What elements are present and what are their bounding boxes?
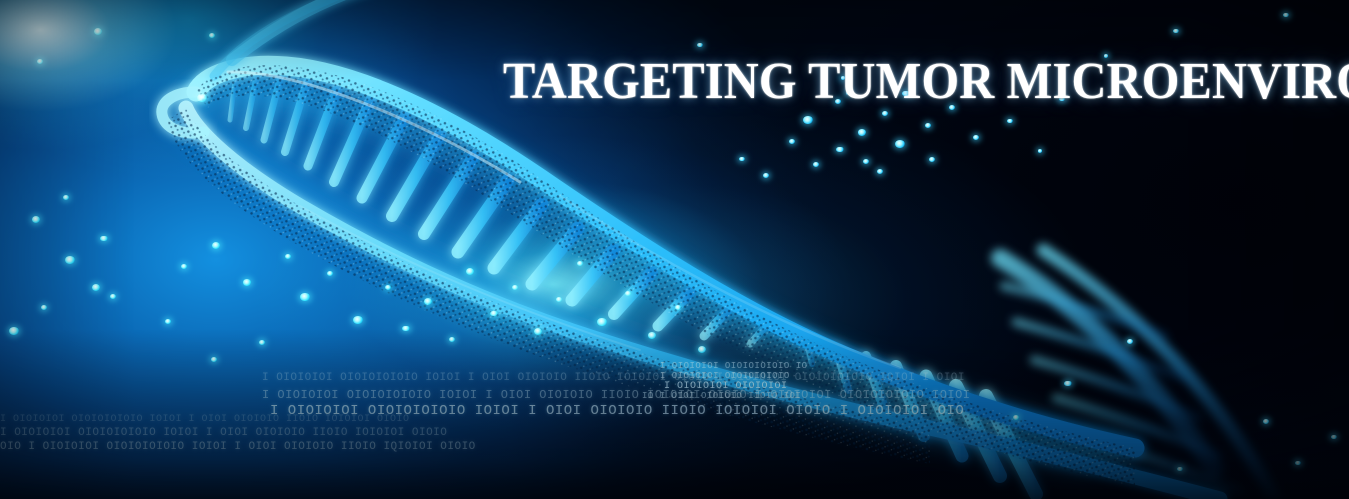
binary-code-row: I OIOIOIOI OIOIOIOIOIO IOIOI I OIOI OIOI… — [0, 414, 410, 425]
binary-code-row: I OIOIOIOI OIOIOIOIOIO IO — [660, 361, 808, 371]
banner-image: I OIOIOIOI OIOIOIOIOIO IOIOI I OIOI OIOI… — [0, 0, 1349, 499]
binary-code-row: I OIOIOIOI OIOIOIOIOIO — [660, 371, 790, 381]
binary-code-row: I OIOIOIOI OIOIOIOIOIO IOIOI I OIOI OIOI… — [0, 427, 447, 439]
binary-code-row: I OIOIOIOI OIOIOIOIOIO IOIOI I OIOI OIOI… — [262, 388, 971, 402]
page-title: TARGETING TUMOR MICROENVIRONMENT — [503, 53, 1349, 111]
binary-code-row: I OIOIOIOI OIOIOIOIOIO IOIOI I OIOI OIOI… — [262, 372, 965, 384]
binary-code-row: OIO I OIOIOIOI OIOIOIOIOIO IOIOI I OIOI … — [0, 441, 476, 453]
binary-code-row: IO I OIOI OIOIOIO IIOIO IOI — [642, 391, 801, 401]
